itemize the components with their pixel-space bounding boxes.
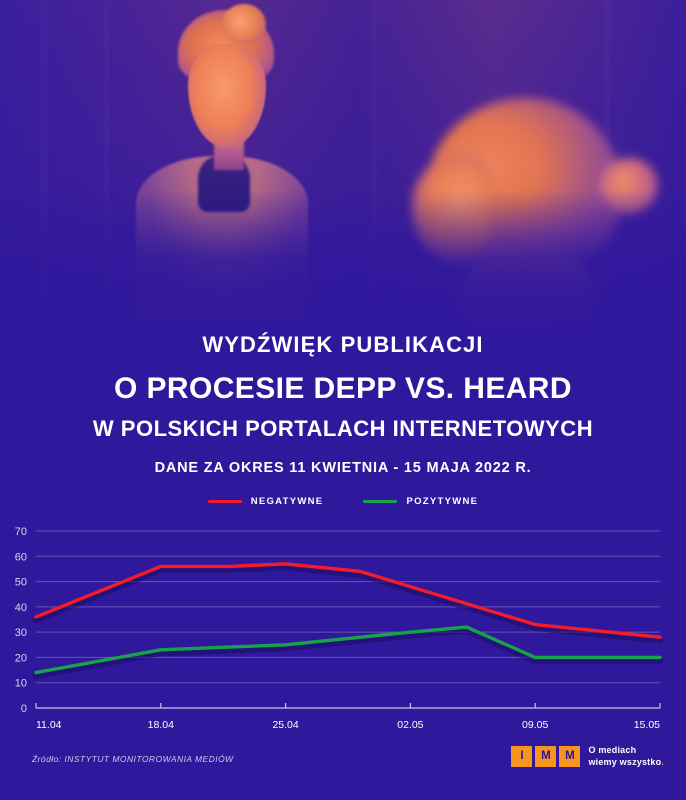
logo-letter-i: I	[511, 746, 532, 767]
legend-swatch-pozytywne	[363, 500, 397, 503]
logo-letter-boxes: I M M	[511, 746, 580, 767]
page-title: O PROCESIE DEPP VS. HEARD	[0, 372, 686, 406]
x-axis-tick-09.05: 09.05	[522, 719, 548, 731]
chart-canvas: 01020304050607011.0418.0425.0402.0509.05…	[0, 516, 686, 736]
logo-tagline-dot: .	[661, 757, 664, 767]
amber-heard-face	[188, 44, 266, 148]
imm-logo: I M M O mediach wiemy wszystko.	[511, 744, 664, 768]
logo-tagline-line2: wiemy wszystko	[588, 757, 661, 767]
legend-swatch-negatywne	[208, 500, 242, 503]
hero-photo-area	[0, 0, 686, 340]
title-block: WYDŹWIĘK PUBLIKACJI O PROCESIE DEPP VS. …	[0, 332, 686, 476]
footer: Źródło: INSTYTUT MONITOROWANIA MEDIÓW I …	[0, 736, 686, 800]
hero-gradient-fade	[0, 190, 686, 340]
chart-legend: NEGATYWNE POZYTYWNE	[0, 496, 686, 507]
y-axis-tick-70: 70	[15, 526, 27, 538]
logo-tagline-line1: O mediach	[588, 744, 664, 756]
title-period: DANE ZA OKRES 11 KWIETNIA - 15 MAJA 2022…	[0, 460, 686, 476]
source-note: Źródło: INSTYTUT MONITOROWANIA MEDIÓW	[32, 754, 234, 764]
logo-letter-m1: M	[535, 746, 556, 767]
y-axis-tick-50: 50	[15, 577, 27, 589]
logo-tagline-line2-wrap: wiemy wszystko.	[588, 756, 664, 768]
x-axis-tick-18.04: 18.04	[148, 719, 174, 731]
legend-item-pozytywne: POZYTYWNE	[363, 496, 478, 507]
legend-label-negatywne: NEGATYWNE	[251, 496, 324, 507]
logo-letter-m2: M	[559, 746, 580, 767]
x-axis-tick-02.05: 02.05	[397, 719, 423, 731]
amber-heard-hair-bun	[222, 4, 266, 44]
logo-tagline: O mediach wiemy wszystko.	[588, 744, 664, 768]
legend-item-negatywne: NEGATYWNE	[208, 496, 324, 507]
infographic-poster: WYDŹWIĘK PUBLIKACJI O PROCESIE DEPP VS. …	[0, 0, 686, 800]
legend-label-pozytywne: POZYTYWNE	[406, 496, 478, 507]
title-kicker: WYDŹWIĘK PUBLIKACJI	[0, 332, 686, 358]
y-axis-tick-40: 40	[15, 602, 27, 614]
y-axis-tick-60: 60	[15, 551, 27, 563]
y-axis-tick-30: 30	[15, 627, 27, 639]
y-axis-tick-10: 10	[15, 678, 27, 690]
title-subtitle: W POLSKICH PORTALACH INTERNETOWYCH	[0, 416, 686, 442]
line-chart: 01020304050607011.0418.0425.0402.0509.05…	[0, 516, 686, 736]
y-axis-tick-20: 20	[15, 652, 27, 664]
y-axis-tick-0: 0	[21, 703, 27, 715]
x-axis-tick-11.04: 11.04	[36, 719, 62, 731]
x-axis-tick-15.05: 15.05	[634, 719, 660, 731]
x-axis-tick-25.04: 25.04	[272, 719, 298, 731]
